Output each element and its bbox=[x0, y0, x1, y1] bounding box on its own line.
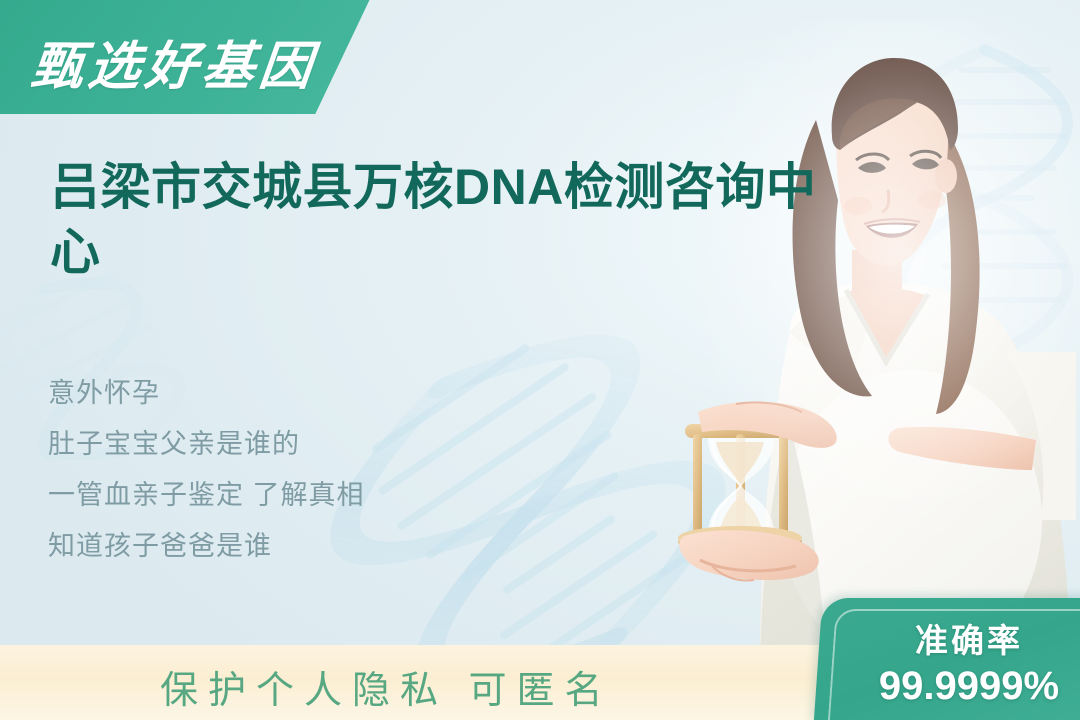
copy-line: 一管血亲子鉴定 了解真相 bbox=[48, 470, 365, 521]
copy-line: 知道孩子爸爸是谁 bbox=[48, 521, 365, 572]
accuracy-value: 99.9999% bbox=[840, 664, 1080, 709]
marketing-copy-block: 意外怀孕 肚子宝宝父亲是谁的 一管血亲子鉴定 了解真相 知道孩子爸爸是谁 bbox=[48, 368, 365, 572]
accuracy-badge: 准确率 99.9999% bbox=[814, 598, 1080, 720]
copy-line: 肚子宝宝父亲是谁的 bbox=[48, 419, 365, 470]
copy-line: 意外怀孕 bbox=[48, 368, 365, 419]
promotional-banner: 甄选好基因 吕梁市交城县万核DNA检测咨询中心 意外怀孕 肚子宝宝父亲是谁的 一… bbox=[0, 0, 1080, 720]
page-title: 吕梁市交城县万核DNA检测咨询中心 bbox=[50, 155, 840, 285]
badge-content: 准确率 99.9999% bbox=[818, 614, 1080, 709]
privacy-tagline: 保护个人隐私 可匿名 bbox=[160, 659, 613, 714]
logo-text: 甄选好基因 bbox=[28, 24, 321, 99]
accuracy-label: 准确率 bbox=[840, 614, 1080, 662]
